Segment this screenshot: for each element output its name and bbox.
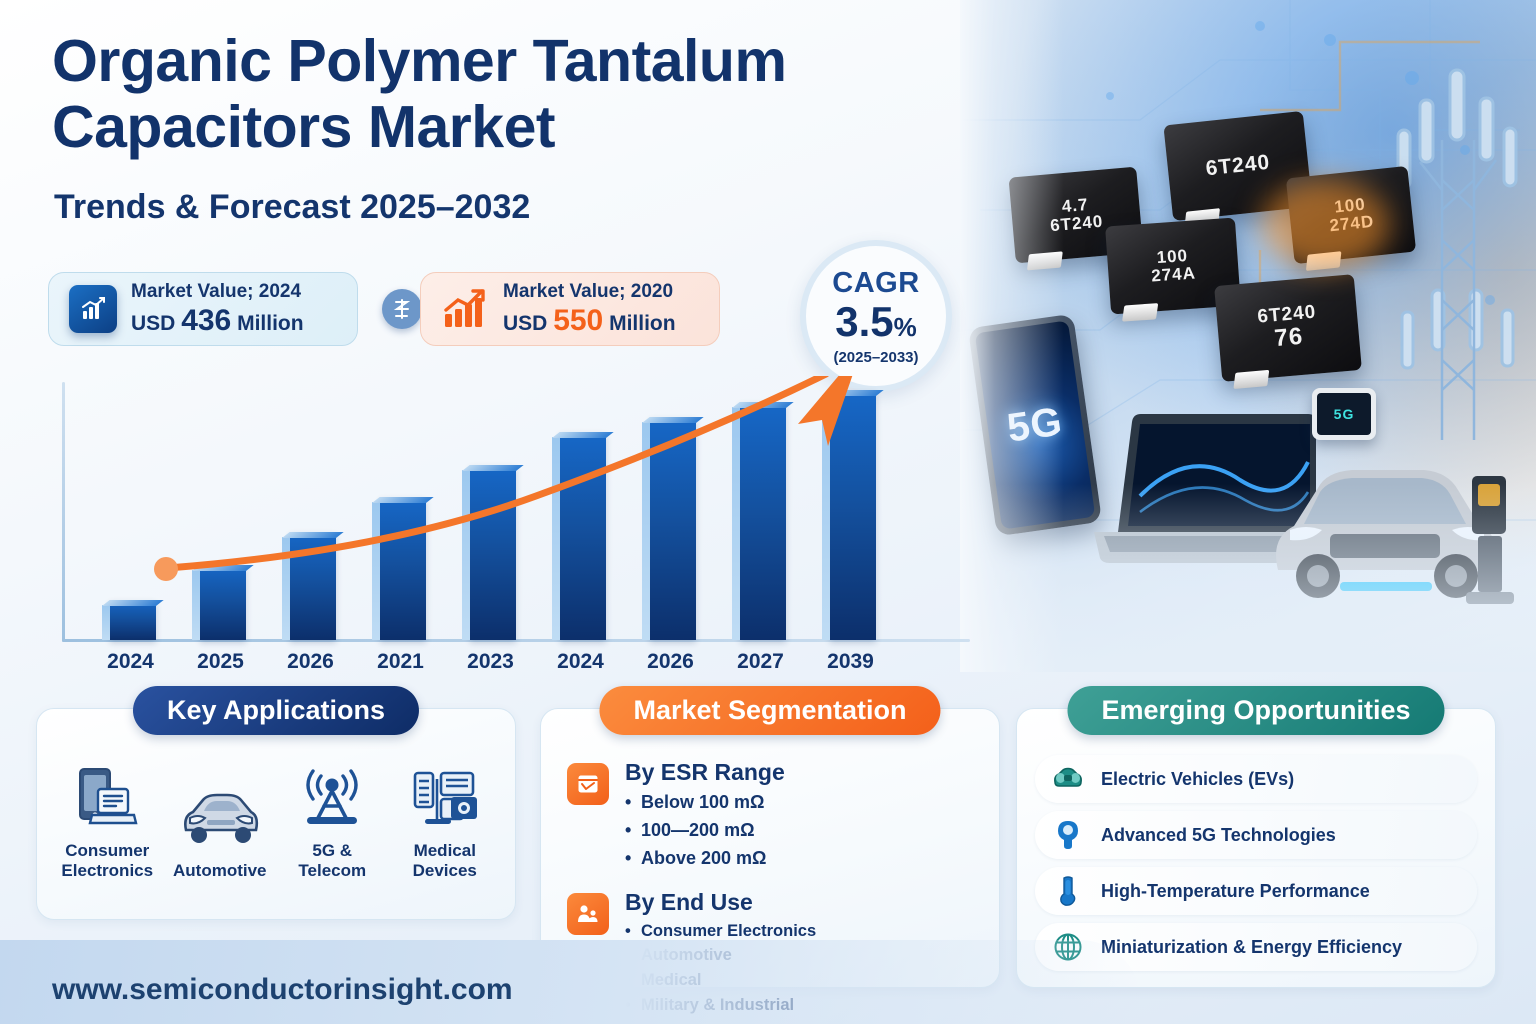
chart-bar-wrap [462,465,519,640]
people-icon [567,893,609,935]
stat-value: 436 [181,304,231,337]
opportunity-item[interactable]: Advanced 5G Technologies [1035,811,1477,859]
opportunity-item[interactable]: Electric Vehicles (EVs) [1035,755,1477,803]
application-item[interactable]: Consumer Electronics [53,761,161,880]
chart-bar [470,465,516,640]
chart-x-label: 2026 [282,650,339,674]
segmentation-group-title: By ESR Range [625,759,785,786]
photo-edge-fade [960,0,1536,672]
chart-bar [290,532,336,640]
stat-value: 550 [553,304,603,337]
growth-chart-icon [441,285,489,333]
chart-bar [200,565,246,640]
exchange-icon [382,289,422,329]
hero-photo-collage: 6T240 4.76T240 100274A 100274D 6T24076 5… [960,0,1536,672]
chart-bar [830,390,876,640]
chart-x-label: 2025 [192,650,249,674]
footer-website-url: www.semiconductorinsight.com [52,973,513,1007]
emerging-opportunities-heading: Emerging Opportunities [1067,686,1444,735]
list-item: Below 100 mΩ [625,789,785,817]
bar-chart-icon [69,285,117,333]
antenna-icon [278,761,386,835]
opportunity-label: Miniaturization & Energy Efficiency [1101,937,1402,958]
opportunity-label: Electric Vehicles (EVs) [1101,769,1294,790]
application-item[interactable]: Medical Devices [391,761,499,880]
market-forecast-chart: 202420252026202120232024202620272039 [56,382,976,682]
chart-x-label: 2027 [732,650,789,674]
stat-label: Market Value; 2024 [131,281,304,303]
chart-y-axis [62,382,65,642]
stat-unit: Million [609,312,676,335]
chart-bar-wrap [372,497,429,640]
opportunity-label: Advanced 5G Technologies [1101,825,1336,846]
chart-bar-wrap [822,390,879,640]
chart-bar-wrap [192,565,249,640]
stat-currency: USD [503,312,547,335]
list-item: Above 200 mΩ [625,845,785,873]
chart-bar [380,497,426,640]
title-line-1: Organic Polymer Tantalum [52,28,1012,94]
chart-x-labels: 202420252026202120232024202620272039 [102,650,970,674]
cagr-period: (2025–2033) [833,349,918,366]
application-label: Automotive [166,861,274,881]
key-applications-panel: Key Applications Consumer Electron [36,708,516,920]
opportunity-label: High-Temperature Performance [1101,881,1370,902]
chart-bar-wrap [642,417,699,640]
medical-equipment-icon [391,761,499,835]
thermometer-icon [1051,874,1085,908]
cagr-badge: CAGR 3.5% (2025–2033) [800,240,952,392]
chart-bar [650,417,696,640]
chart-bar [110,600,156,640]
devices-icon [53,761,161,835]
segmentation-esr-list: Below 100 mΩ 100—200 mΩ Above 200 mΩ [625,789,785,873]
cagr-label: CAGR [832,267,919,300]
chart-bar-wrap [732,402,789,640]
chart-x-label: 2023 [462,650,519,674]
segmentation-group-esr: By ESR Range Below 100 mΩ 100—200 mΩ Abo… [541,759,999,873]
application-item[interactable]: 5G & Telecom [278,761,386,880]
chart-bar-wrap [282,532,339,640]
list-item: 100—200 mΩ [625,817,785,845]
title-line-2: Capacitors Market [52,94,1012,160]
page-title: Organic Polymer Tantalum Capacitors Mark… [52,28,1012,160]
application-label: Medical Devices [391,841,499,880]
chart-x-label: 2026 [642,650,699,674]
chart-x-label: 2024 [102,650,159,674]
stat-badge-market-value-2020: Market Value; 2020 USD 550 Million [420,272,720,346]
application-label: Consumer Electronics [53,841,161,880]
stat-badge-market-value-2024: Market Value; 2024 USD 436 Million [48,272,358,346]
cagr-percent-sign: % [894,312,917,342]
key-applications-heading: Key Applications [133,686,419,735]
chart-bars [102,382,970,640]
esr-card-icon [567,763,609,805]
infographic-root: 6T240 4.76T240 100274A 100274D 6T24076 5… [0,0,1536,1024]
car-icon [166,781,274,855]
opportunity-item[interactable]: High-Temperature Performance [1035,867,1477,915]
chart-bar-wrap [552,432,609,640]
chart-bar-wrap [102,600,159,640]
application-item[interactable]: Automotive [166,781,274,881]
application-label: 5G & Telecom [278,841,386,880]
stat-unit: Million [237,312,304,335]
chart-bar [740,402,786,640]
ev-car-icon [1051,762,1085,796]
market-segmentation-heading: Market Segmentation [599,686,940,735]
chart-bar [560,432,606,640]
page-subtitle: Trends & Forecast 2025–2032 [54,188,530,227]
stat-currency: USD [131,312,175,335]
chart-x-label: 2024 [552,650,609,674]
segmentation-group-title: By End Use [625,889,816,916]
lightbulb-icon [1051,818,1085,852]
stat-label: Market Value; 2020 [503,281,676,303]
chart-x-label: 2021 [372,650,429,674]
cagr-value: 3.5 [835,298,893,345]
chart-x-label: 2039 [822,650,879,674]
